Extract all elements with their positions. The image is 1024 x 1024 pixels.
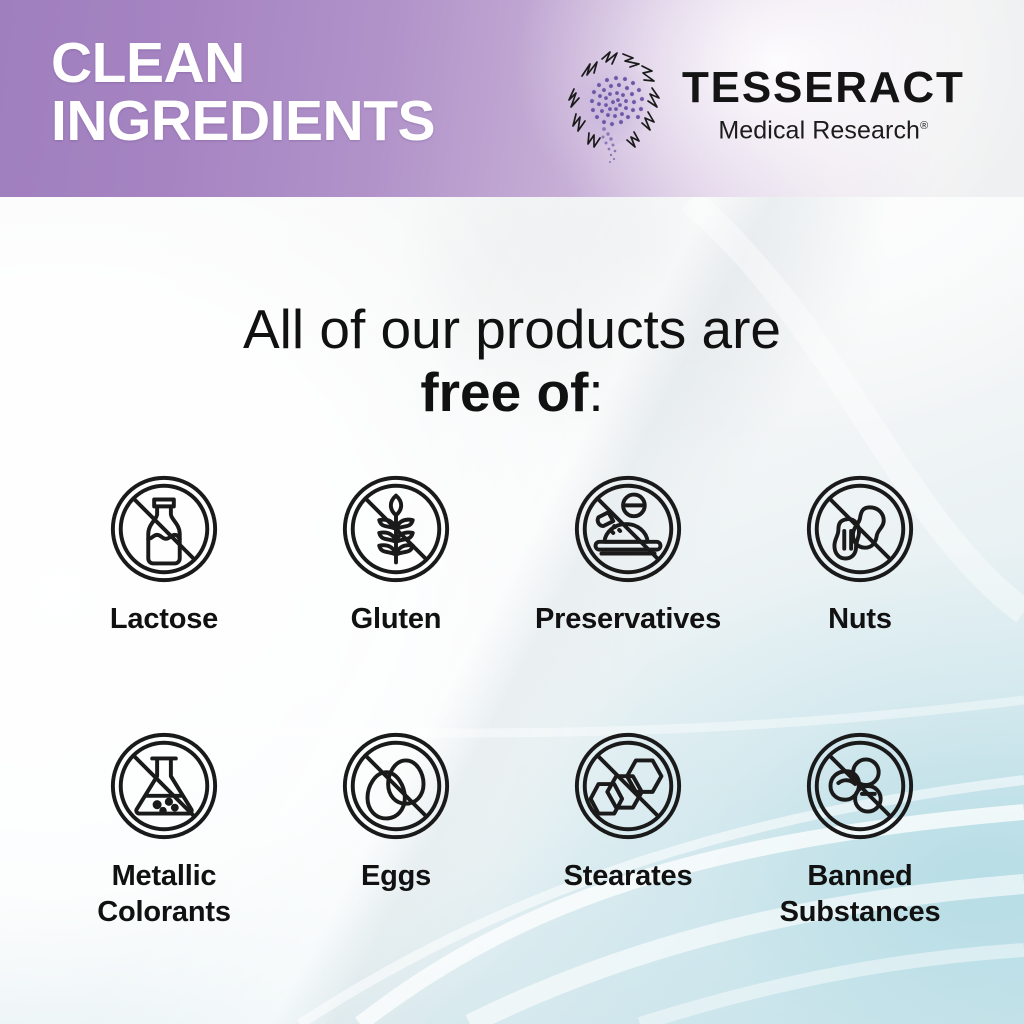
free-of-item-lactose: Lactose [48, 470, 280, 637]
spiral-nautilus-logo-icon [560, 40, 670, 165]
subheading-colon: : [588, 361, 603, 423]
free-of-label: BannedSubstances [780, 858, 941, 930]
free-of-row-1: Lactose [48, 470, 976, 637]
free-of-label: Stearates [564, 858, 693, 894]
subheading-line-1: All of our products are [0, 298, 1024, 361]
no-flask-icon [105, 727, 223, 845]
page-title-line1: CLEAN [51, 31, 245, 95]
free-of-item-preservatives: Preservatives [512, 470, 744, 637]
free-of-item-stearates: Stearates [512, 727, 744, 930]
brand-tagline-text: Medical Research [718, 117, 920, 145]
free-of-item-metallic-colorants: MetallicColorants [48, 727, 280, 930]
no-preservative-spray-food-icon [569, 470, 687, 588]
subheading: All of our products are free of: [0, 298, 1024, 424]
free-of-label: Eggs [361, 858, 431, 894]
free-of-row-2: MetallicColorants Eggs [48, 727, 976, 930]
no-wheat-icon [337, 470, 455, 588]
no-pills-icon [801, 727, 919, 845]
free-of-label: Gluten [351, 601, 442, 637]
free-of-icon-grid: Lactose [48, 470, 976, 930]
free-of-item-eggs: Eggs [280, 727, 512, 930]
no-eggs-icon [337, 727, 455, 845]
free-of-item-gluten: Gluten [280, 470, 512, 637]
no-hexagon-molecule-icon [569, 727, 687, 845]
subheading-line-2: free of: [0, 361, 1024, 424]
subheading-emphasis: free of [420, 361, 588, 423]
no-milk-bottle-icon [105, 470, 223, 588]
brand-wordmark: TESSERACT Medical Research® [682, 59, 965, 145]
page-title: CLEAN INGREDIENTS [51, 34, 435, 150]
brand-name: TESSERACT [682, 65, 965, 111]
page-title-line2: INGREDIENTS [51, 92, 435, 150]
registered-trademark-mark: ® [920, 120, 928, 132]
clean-ingredients-poster: CLEAN INGREDIENTS [0, 0, 1024, 1024]
no-peanuts-icon [801, 470, 919, 588]
brand-logo: TESSERACT Medical Research® [560, 40, 965, 165]
free-of-label: MetallicColorants [97, 858, 231, 930]
free-of-label: Lactose [110, 601, 218, 637]
free-of-item-banned-substances: BannedSubstances [744, 727, 976, 930]
free-of-item-nuts: Nuts [744, 470, 976, 637]
free-of-label: Preservatives [535, 601, 721, 637]
free-of-label: Nuts [828, 601, 892, 637]
brand-tagline: Medical Research® [682, 111, 965, 145]
